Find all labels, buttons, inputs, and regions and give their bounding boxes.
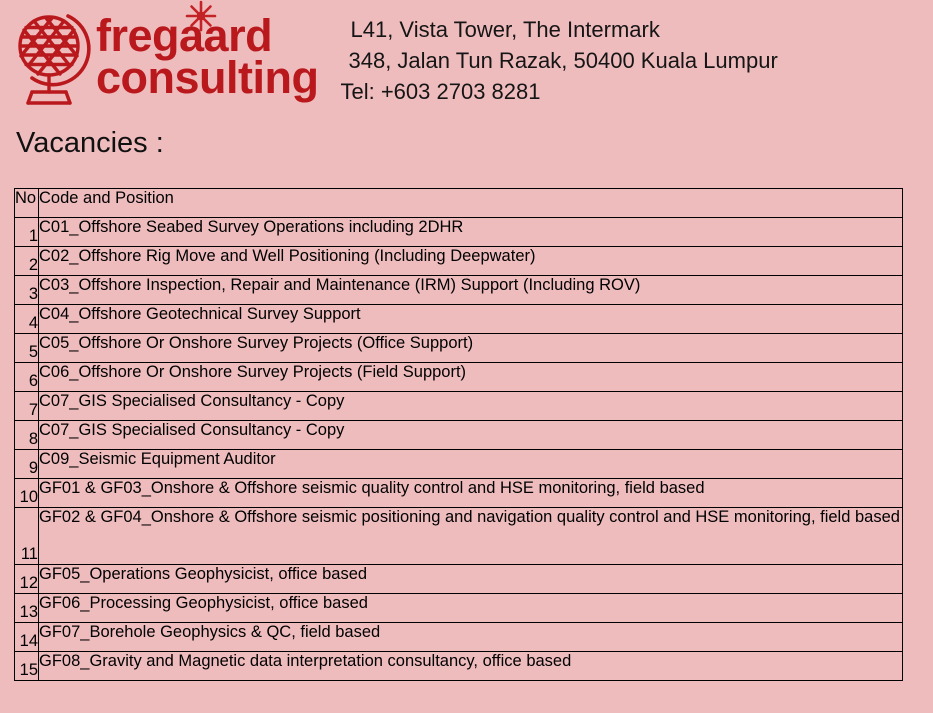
vacancies-flyer-page: { "brand": { "logo_icon": "globe-on-stan… [0, 0, 933, 713]
row-position-cell: GF01 & GF03_Onshore & Offshore seismic q… [39, 479, 903, 508]
row-position-cell: C07_GIS Specialised Consultancy - Copy [39, 421, 903, 450]
table-body: 1C01_Offshore Seabed Survey Operations i… [15, 218, 903, 681]
row-number-cell: 3 [15, 276, 39, 305]
row-position-cell: C02_Offshore Rig Move and Well Positioni… [39, 247, 903, 276]
row-number-cell: 10 [15, 479, 39, 508]
table-row[interactable]: 13GF06_Processing Geophysicist, office b… [15, 594, 903, 623]
row-position-cell: GF05_Operations Geophysicist, office bas… [39, 565, 903, 594]
row-position-cell: GF08_Gravity and Magnetic data interpret… [39, 652, 903, 681]
brand-name-line-2: consulting [96, 55, 318, 101]
row-number-cell: 13 [15, 594, 39, 623]
table-header: No Code and Position [15, 189, 903, 218]
row-position-cell: C04_Offshore Geotechnical Survey Support [39, 305, 903, 334]
row-number-cell: 6 [15, 363, 39, 392]
row-number-cell: 15 [15, 652, 39, 681]
row-number-cell: 1 [15, 218, 39, 247]
company-logo: fregaard consulting [8, 6, 318, 110]
row-number-cell: 4 [15, 305, 39, 334]
row-position-cell: C07_GIS Specialised Consultancy - Copy [39, 392, 903, 421]
table-row[interactable]: 1C01_Offshore Seabed Survey Operations i… [15, 218, 903, 247]
table-row[interactable]: 7C07_GIS Specialised Consultancy - Copy [15, 392, 903, 421]
table-row[interactable]: 4C04_Offshore Geotechnical Survey Suppor… [15, 305, 903, 334]
row-number-cell: 7 [15, 392, 39, 421]
globe-on-stand-icon [8, 6, 92, 110]
row-position-cell: C09_Seismic Equipment Auditor [39, 450, 903, 479]
address-line-1: L41, Vista Tower, The Intermark [340, 14, 933, 45]
row-number-cell: 2 [15, 247, 39, 276]
row-number-cell: 12 [15, 565, 39, 594]
company-address: L41, Vista Tower, The Intermark 348, Jal… [340, 14, 933, 107]
table-row[interactable]: 3C03_Offshore Inspection, Repair and Mai… [15, 276, 903, 305]
row-number-cell: 11 [15, 508, 39, 565]
table-row[interactable]: 11GF02 & GF04_Onshore & Offshore seismic… [15, 508, 903, 565]
table-row[interactable]: 12GF05_Operations Geophysicist, office b… [15, 565, 903, 594]
address-line-2: 348, Jalan Tun Razak, 50400 Kuala Lumpur [340, 45, 933, 76]
vacancies-table-wrap: No Code and Position 1C01_Offshore Seabe… [14, 188, 903, 681]
row-position-cell: C05_Offshore Or Onshore Survey Projects … [39, 334, 903, 363]
row-position-cell: GF07_Borehole Geophysics & QC, field bas… [39, 623, 903, 652]
brand-wordmark: fregaard consulting [96, 13, 318, 101]
row-position-cell: C01_Offshore Seabed Survey Operations in… [39, 218, 903, 247]
table-row[interactable]: 5C05_Offshore Or Onshore Survey Projects… [15, 334, 903, 363]
row-number-cell: 9 [15, 450, 39, 479]
address-phone-line: Tel: +603 2703 8281 [340, 76, 933, 107]
column-header-no: No [15, 189, 39, 218]
row-number-cell: 5 [15, 334, 39, 363]
page-title: Vacancies : [0, 112, 933, 160]
table-row[interactable]: 8C07_GIS Specialised Consultancy - Copy [15, 421, 903, 450]
row-number-cell: 8 [15, 421, 39, 450]
table-row[interactable]: 6C06_Offshore Or Onshore Survey Projects… [15, 363, 903, 392]
letterhead: fregaard consulting L41, Vista Tower, Th… [0, 0, 933, 112]
table-row[interactable]: 15GF08_Gravity and Magnetic data interpr… [15, 652, 903, 681]
column-header-code-and-position: Code and Position [39, 189, 903, 218]
row-position-cell: C06_Offshore Or Onshore Survey Projects … [39, 363, 903, 392]
table-row[interactable]: 2C02_Offshore Rig Move and Well Position… [15, 247, 903, 276]
row-position-cell: GF02 & GF04_Onshore & Offshore seismic p… [39, 508, 903, 565]
vacancies-table: No Code and Position 1C01_Offshore Seabe… [14, 188, 903, 681]
table-row[interactable]: 9C09_Seismic Equipment Auditor [15, 450, 903, 479]
row-position-cell: GF06_Processing Geophysicist, office bas… [39, 594, 903, 623]
row-number-cell: 14 [15, 623, 39, 652]
table-header-row: No Code and Position [15, 189, 903, 218]
table-row[interactable]: 14GF07_Borehole Geophysics & QC, field b… [15, 623, 903, 652]
row-position-cell: C03_Offshore Inspection, Repair and Main… [39, 276, 903, 305]
table-row[interactable]: 10GF01 & GF03_Onshore & Offshore seismic… [15, 479, 903, 508]
